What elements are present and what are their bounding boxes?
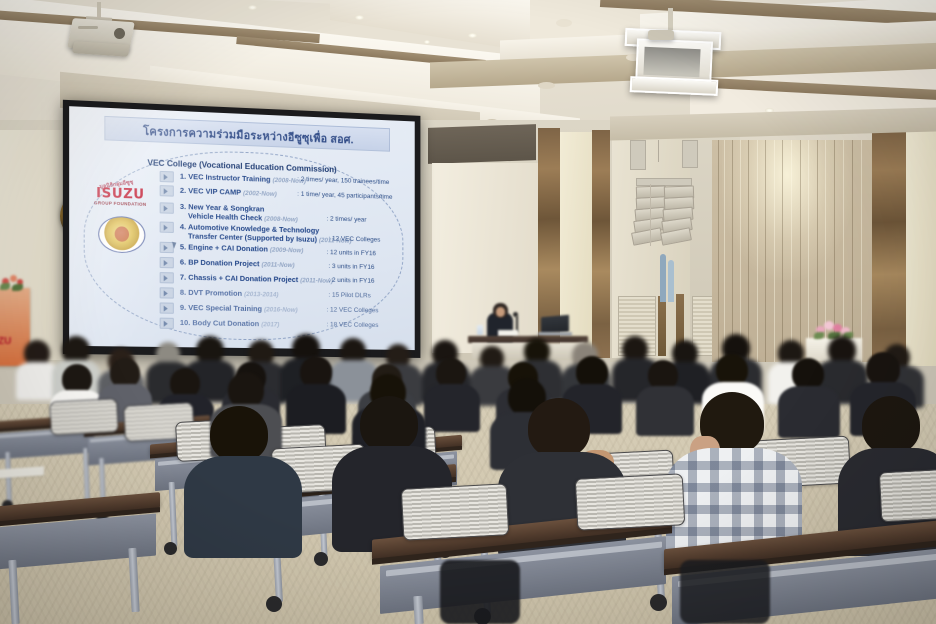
item-6-num: 6. <box>180 257 186 266</box>
item-9-value: : 12 VEC Colleges <box>326 306 378 314</box>
item-5-years: (2009-Now) <box>270 247 303 255</box>
slide-bullet-10 <box>160 318 174 329</box>
slide-title-thai: โครงการความร่วมมือระหว่างอีซูซุเพื่อ สอศ… <box>105 120 389 150</box>
item-6-name: BP Donation Project <box>188 258 259 269</box>
slide-title-bar: โครงการความร่วมมือระหว่างอีซูซุเพื่อ สอศ… <box>104 116 390 152</box>
item-10-value: : 18 VEC Colleges <box>326 321 378 329</box>
seminar-room-photo: โครงการความร่วมมือระหว่างอีซูซุเพื่อ สอศ… <box>0 0 936 624</box>
presenter-face <box>496 307 505 317</box>
item-9-name: VEC Special Training <box>188 303 262 313</box>
item-3-value: : 2 times/ year <box>326 215 366 223</box>
item-10-num: 10. <box>180 318 190 327</box>
slide-bullet-6 <box>160 257 174 268</box>
item-3-years: (2008-Now) <box>264 216 298 224</box>
item-6-years: (2011-Now) <box>261 261 294 269</box>
item-5-num: 5. <box>180 242 186 251</box>
item-10-name: Body Cut Donation <box>192 318 259 328</box>
item-3-num: 3. <box>180 202 186 211</box>
item-8-num: 8. <box>180 288 186 297</box>
item-7-value: : 2 units in FY16 <box>328 277 374 285</box>
item-9-num: 9. <box>180 303 186 312</box>
item-8-name: DVT Promotion <box>188 288 242 298</box>
item-1-num: 1. <box>180 172 186 181</box>
seated-legs <box>440 560 520 624</box>
item-2-years: (2002-Now) <box>243 190 277 198</box>
slide-bullet-9 <box>160 302 174 313</box>
projection-screen-frame: โครงการความร่วมมือระหว่างอีซูซุเพื่อ สอศ… <box>63 100 421 358</box>
slide-bullet-8 <box>160 287 174 298</box>
item-8-value: : 15 Pilot DLRs <box>328 292 370 300</box>
item-9-years: (2016-Now) <box>264 306 298 314</box>
slide-bullet-3 <box>160 202 174 214</box>
slide-bullet-2 <box>160 185 174 197</box>
projection-screen: โครงการความร่วมมือระหว่างอีซูซุเพื่อ สอศ… <box>69 106 415 350</box>
banner-text: ZU <box>0 336 11 347</box>
slide-bullet-1 <box>160 171 174 183</box>
slide-bullet-7 <box>160 272 174 283</box>
item-7-num: 7. <box>180 273 186 282</box>
item-8-years: (2013-2014) <box>244 291 278 299</box>
flower-arrangement-left <box>0 274 26 292</box>
item-2-name: VEC VIP CAMP <box>188 186 241 197</box>
item-4-num: 4. <box>180 222 186 231</box>
slide-item-10: 10. Body Cut Donation (2017) <box>180 318 280 329</box>
item-5-value: : 12 units in FY16 <box>326 249 375 257</box>
item-6-value: : 3 units in FY16 <box>328 263 374 271</box>
item-4-value: : 12 VEC Colleges <box>328 235 380 243</box>
seated-legs <box>680 560 770 624</box>
slide-item-8: 8. DVT Promotion (2013-2014) <box>180 288 279 299</box>
flower-arrangement-right <box>812 318 856 340</box>
item-10-years: (2017) <box>261 321 279 328</box>
royal-seal-emblem <box>98 216 145 254</box>
slide-bullet-4 <box>160 221 174 233</box>
water-glass <box>477 325 483 335</box>
item-2-num: 2. <box>180 186 186 195</box>
